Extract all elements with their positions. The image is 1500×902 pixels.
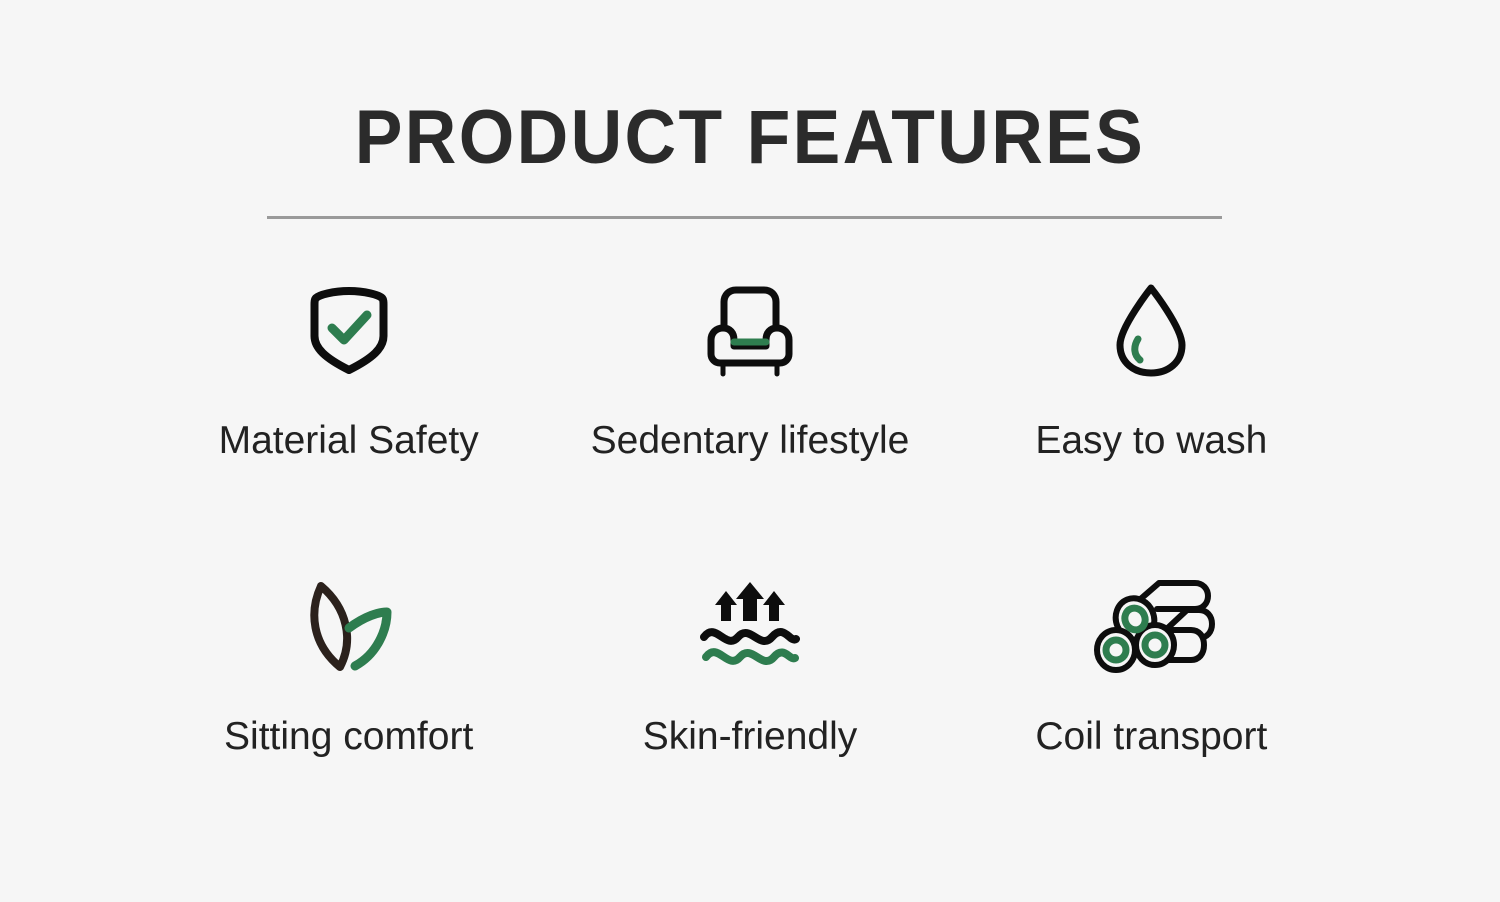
leaves-icon <box>299 578 399 674</box>
page-title: PRODUCT FEATURES <box>45 96 1455 180</box>
feature-item-material-safety: Material Safety <box>148 282 549 578</box>
product-features-page: PRODUCT FEATURES Material Safety <box>0 0 1500 902</box>
feature-item-easy-to-wash: Easy to wash <box>951 282 1352 578</box>
feature-label: Easy to wash <box>1035 418 1267 464</box>
page-header: PRODUCT FEATURES <box>0 96 1500 180</box>
shield-check-icon <box>303 282 395 378</box>
feature-item-coil-transport: Coil transport <box>951 578 1352 874</box>
armchair-icon <box>700 282 800 378</box>
feature-label: Material Safety <box>219 418 479 464</box>
stacked-logs-icon <box>1087 578 1215 674</box>
feature-item-sitting-comfort: Sitting comfort <box>148 578 549 874</box>
features-grid: Material Safety Sedentary lifestyle <box>0 282 1500 874</box>
feature-label: Skin-friendly <box>643 714 858 760</box>
feature-label: Coil transport <box>1035 714 1267 760</box>
water-drop-icon <box>1111 282 1191 378</box>
feature-item-skin-friendly: Skin-friendly <box>549 578 950 874</box>
feature-label: Sedentary lifestyle <box>591 418 910 464</box>
feature-label: Sitting comfort <box>224 714 473 760</box>
title-divider <box>267 216 1222 219</box>
feature-item-sedentary-lifestyle: Sedentary lifestyle <box>549 282 950 578</box>
breathable-waves-icon <box>696 578 804 674</box>
